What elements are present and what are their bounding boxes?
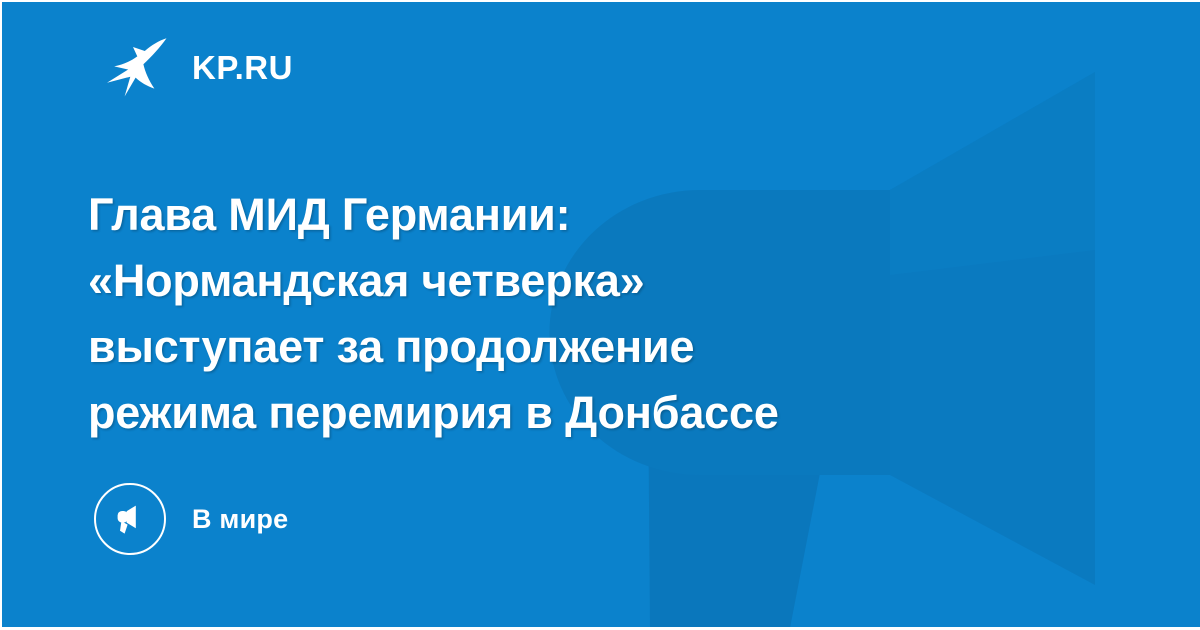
- page-title: Глава МИД Германии: «Нормандская четверк…: [88, 182, 1028, 446]
- headline-line-1: Глава МИД Германии:: [88, 182, 1028, 248]
- brand-wordmark: KP.RU: [192, 51, 293, 84]
- swallow-bird-logo-icon: [104, 34, 170, 100]
- site-logo[interactable]: KP.RU: [104, 34, 293, 100]
- edge-top: [0, 0, 1200, 2]
- headline-line-2: «Нормандская четверка»: [88, 248, 1028, 314]
- megaphone-icon: [94, 483, 166, 555]
- edge-left: [0, 0, 2, 630]
- social-share-card: KP.RU Глава МИД Германии: «Нормандская ч…: [0, 0, 1200, 630]
- category-badge[interactable]: В мире: [94, 483, 288, 555]
- headline-line-4: режима перемирия в Донбассе: [88, 380, 1028, 446]
- headline-line-3: выступает за продолжение: [88, 314, 1028, 380]
- status-badge: В мире: [192, 506, 288, 533]
